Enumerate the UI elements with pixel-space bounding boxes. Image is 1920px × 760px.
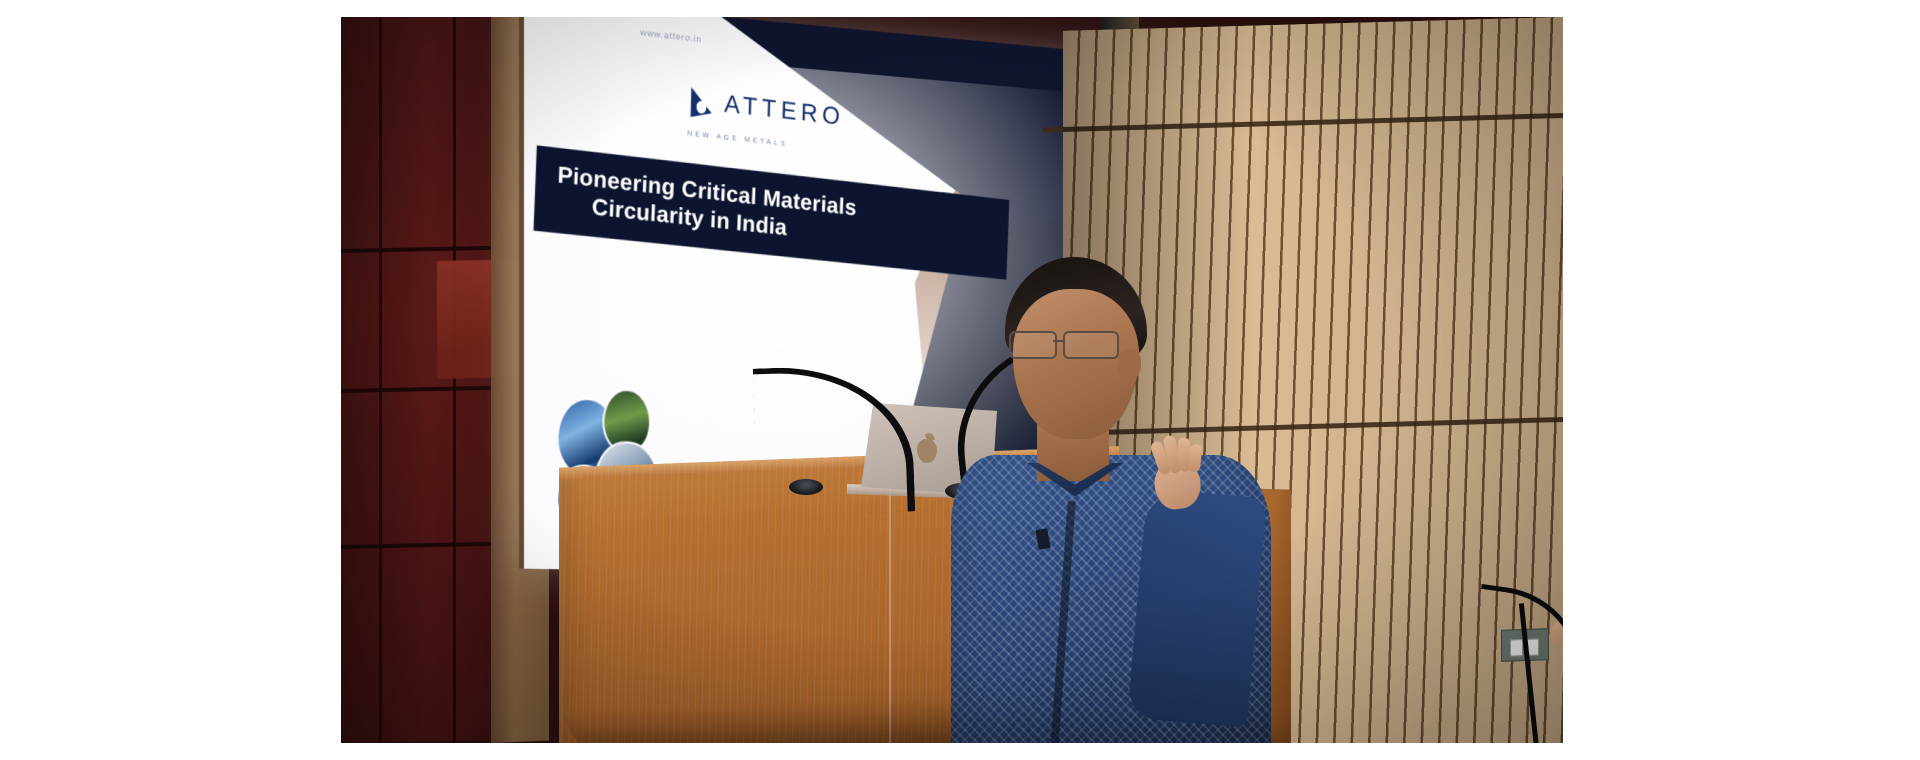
attero-wordmark: ATTERO — [724, 91, 845, 129]
microphone-base-left — [789, 479, 823, 495]
apple-logo — [917, 439, 937, 464]
presenter-gesturing-hand — [1142, 431, 1210, 514]
eyeglasses — [1007, 331, 1133, 357]
maroon-tiled-wall — [341, 17, 501, 743]
attero-tagline: NEW AGE METALS — [687, 130, 788, 148]
slide-website-url: www.attero.in — [640, 27, 702, 44]
presentation-photograph: www.attero.in ATTERO NEW AGE METALS Pion… — [341, 17, 1563, 743]
screenshot-canvas: www.attero.in ATTERO NEW AGE METALS Pion… — [0, 0, 1920, 760]
attero-droplet-mark — [687, 81, 717, 122]
presenter — [941, 257, 1271, 743]
presenter-arm — [1127, 488, 1267, 728]
